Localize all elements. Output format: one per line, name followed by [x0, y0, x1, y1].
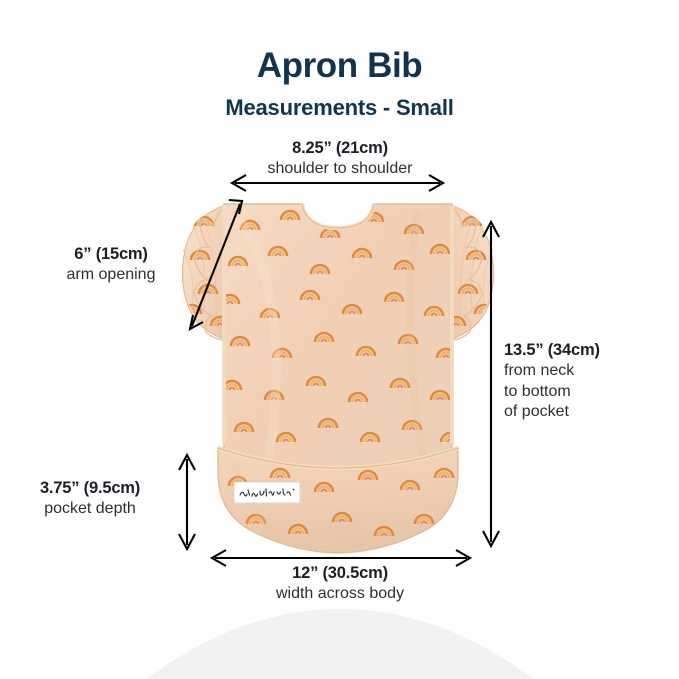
- arm-opening-measurement-description: arm opening: [18, 265, 204, 285]
- arm-opening-measurement-value: 6” (15cm): [18, 244, 204, 265]
- body-width-measurement-label: 12” (30.5cm) width across body: [200, 563, 480, 605]
- page-subtitle: Measurements - Small: [0, 95, 679, 121]
- neck-to-pocket-measurement-arrow: [480, 216, 502, 552]
- arm-opening-measurement-label: 6” (15cm) arm opening: [18, 244, 204, 286]
- neck-to-pocket-description-line-2: to bottom: [504, 382, 674, 402]
- shoulder-measurement-value: 8.25” (21cm): [160, 138, 520, 159]
- neck-to-pocket-description-line-1: from neck: [504, 361, 674, 381]
- pocket-depth-measurement-label: 3.75” (9.5cm) pocket depth: [10, 478, 170, 520]
- neck-to-pocket-description-line-3: of pocket: [504, 402, 674, 422]
- body-width-measurement-description: width across body: [200, 584, 480, 604]
- background-arc-decoration: [0, 609, 679, 679]
- brand-label: [234, 482, 300, 503]
- shoulder-measurement-label: 8.25” (21cm) shoulder to shoulder: [160, 138, 520, 180]
- pocket-depth-measurement-description: pocket depth: [10, 499, 170, 519]
- neck-to-pocket-measurement-label: 13.5” (34cm) from neck to bottom of pock…: [504, 340, 674, 423]
- body-width-measurement-value: 12” (30.5cm): [200, 563, 480, 584]
- pocket-depth-measurement-arrow: [176, 450, 198, 554]
- page-title: Apron Bib: [0, 46, 679, 86]
- shoulder-measurement-description: shoulder to shoulder: [160, 159, 520, 179]
- neck-to-pocket-measurement-value: 13.5” (34cm): [504, 340, 674, 361]
- pocket-depth-measurement-value: 3.75” (9.5cm): [10, 478, 170, 499]
- measurement-diagram-page: Apron Bib Measurements - Small: [0, 0, 679, 679]
